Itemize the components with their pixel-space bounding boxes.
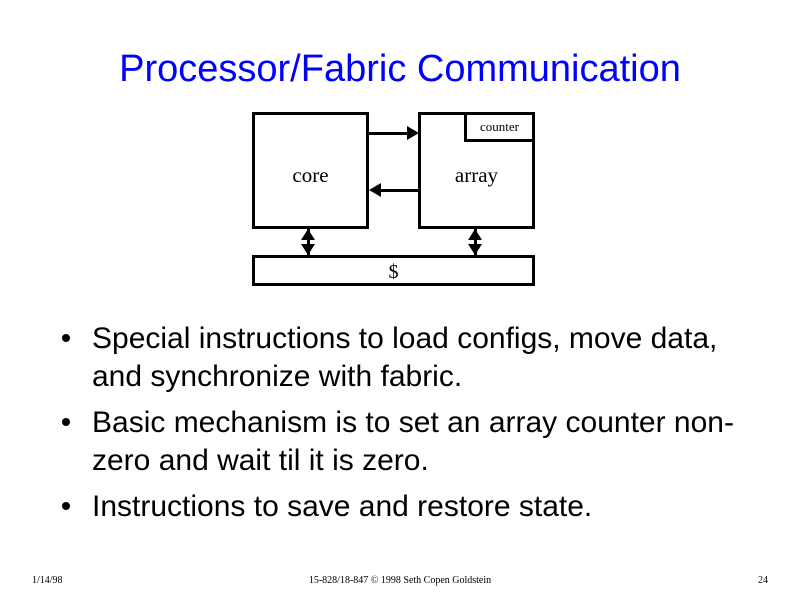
core-block-label: core	[255, 165, 366, 186]
counter-block: counter	[464, 112, 535, 142]
arrow-up-icon	[301, 229, 315, 240]
cache-block-label: $	[255, 262, 532, 282]
list-item-text: Basic mechanism is to set an array count…	[92, 406, 734, 477]
core-block: core	[252, 112, 369, 229]
bullet-dot-icon	[62, 334, 70, 342]
counter-block-label: counter	[467, 120, 532, 134]
bullet-dot-icon	[62, 502, 70, 510]
arrow-right-icon	[407, 126, 419, 140]
array-to-core-arrow-shaft	[381, 189, 419, 192]
arrow-left-icon	[369, 183, 381, 197]
array-block-label: array	[421, 165, 532, 186]
slide-footer: 1/14/98 15-828/18-847 © 1998 Seth Copen …	[0, 575, 800, 595]
cache-block: $	[252, 255, 535, 286]
footer-page-number: 24	[758, 575, 768, 586]
core-to-array-arrow-shaft	[369, 132, 409, 135]
arrow-down-icon	[468, 244, 482, 255]
processor-fabric-diagram: core array counter $	[0, 0, 800, 310]
arrow-up-icon	[468, 229, 482, 240]
arrow-down-icon	[301, 244, 315, 255]
list-item: Special instructions to load configs, mo…	[56, 320, 746, 396]
slide: Processor/Fabric Communication core arra…	[0, 0, 800, 600]
list-item-text: Special instructions to load configs, mo…	[92, 322, 717, 393]
bullet-dot-icon	[62, 418, 70, 426]
list-item-text: Instructions to save and restore state.	[92, 490, 592, 523]
list-item: Instructions to save and restore state.	[56, 488, 746, 526]
bullet-list: Special instructions to load configs, mo…	[56, 320, 746, 534]
list-item: Basic mechanism is to set an array count…	[56, 404, 746, 480]
footer-course-credit: 15-828/18-847 © 1998 Seth Copen Goldstei…	[0, 575, 800, 586]
